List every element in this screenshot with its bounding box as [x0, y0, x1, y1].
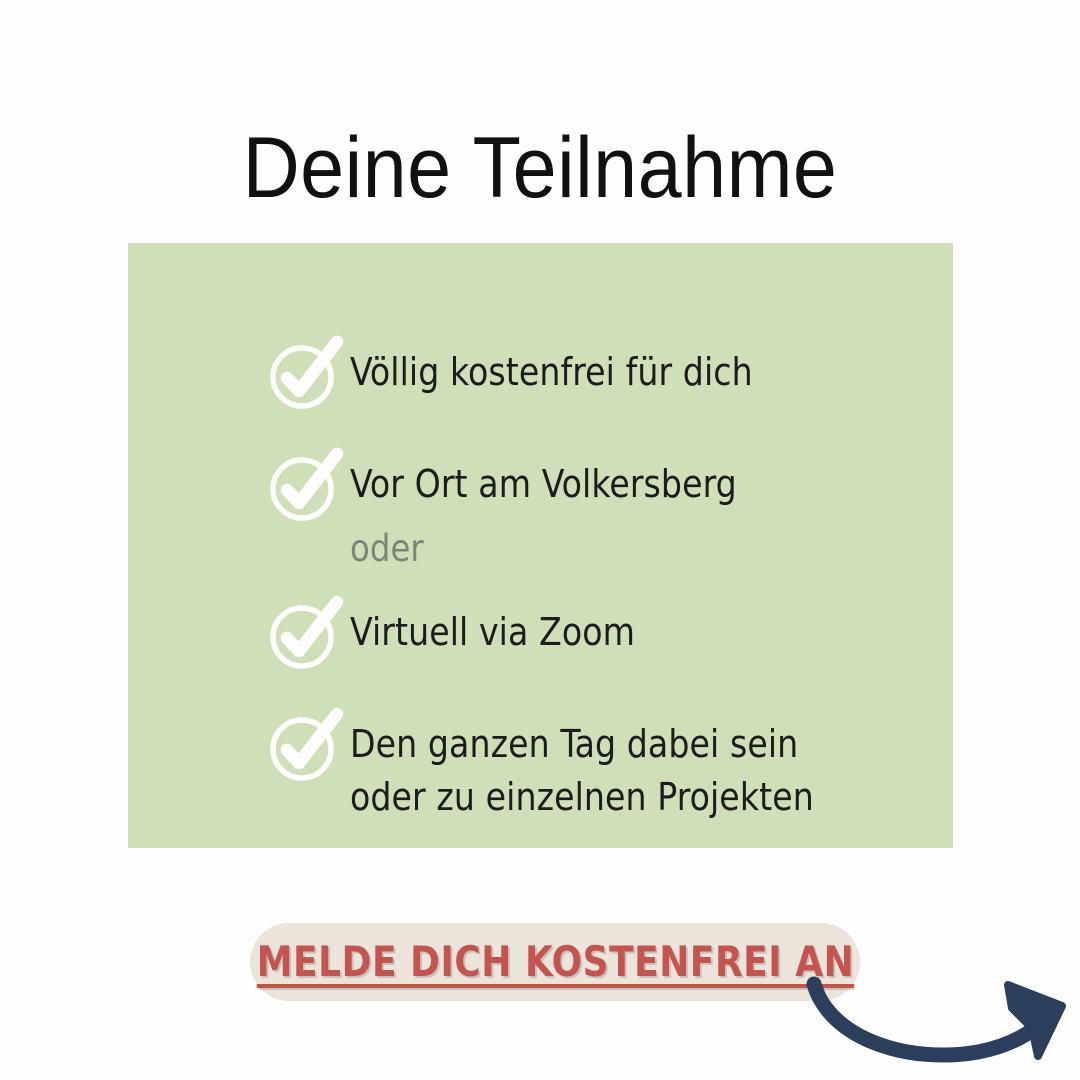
- list-item-separator: oder: [265, 524, 945, 594]
- separator-label: oder: [350, 524, 927, 574]
- page-title: Deine Teilnahme: [43, 116, 1037, 220]
- list-item: Virtuell via Zoom: [265, 600, 945, 670]
- check-circle-icon: [265, 712, 350, 782]
- signup-cta-button[interactable]: MELDE DICH KOSTENFREI AN: [250, 923, 860, 1001]
- list-item-label: Den ganzen Tag dabei sein oder zu einzel…: [350, 712, 927, 824]
- list-item-line: Vor Ort am Volkersberg: [350, 458, 927, 511]
- list-item-line: Völlig kostenfrei für dich: [350, 346, 927, 399]
- benefits-list: Völlig kostenfrei für dich Vor Ort am Vo…: [265, 340, 945, 824]
- list-item-label: Völlig kostenfrei für dich: [350, 340, 927, 399]
- list-item-line: oder zu einzelnen Projekten: [350, 771, 927, 824]
- benefits-panel: Völlig kostenfrei für dich Vor Ort am Vo…: [128, 243, 953, 848]
- list-item: Den ganzen Tag dabei sein oder zu einzel…: [265, 712, 945, 824]
- list-item: Völlig kostenfrei für dich: [265, 340, 945, 410]
- list-item-label: Virtuell via Zoom: [350, 600, 927, 659]
- check-circle-icon: [265, 600, 350, 670]
- list-item-line: Virtuell via Zoom: [350, 606, 927, 659]
- signup-cta-label: MELDE DICH KOSTENFREI AN: [256, 939, 853, 985]
- list-item-label: Vor Ort am Volkersberg: [350, 452, 927, 511]
- list-item-line: Den ganzen Tag dabei sein: [350, 718, 927, 771]
- poster-canvas: Deine Teilnahme Völlig kostenfrei für di…: [0, 0, 1080, 1080]
- list-item: Vor Ort am Volkersberg: [265, 452, 945, 522]
- check-circle-icon: [265, 340, 350, 410]
- check-circle-icon: [265, 452, 350, 522]
